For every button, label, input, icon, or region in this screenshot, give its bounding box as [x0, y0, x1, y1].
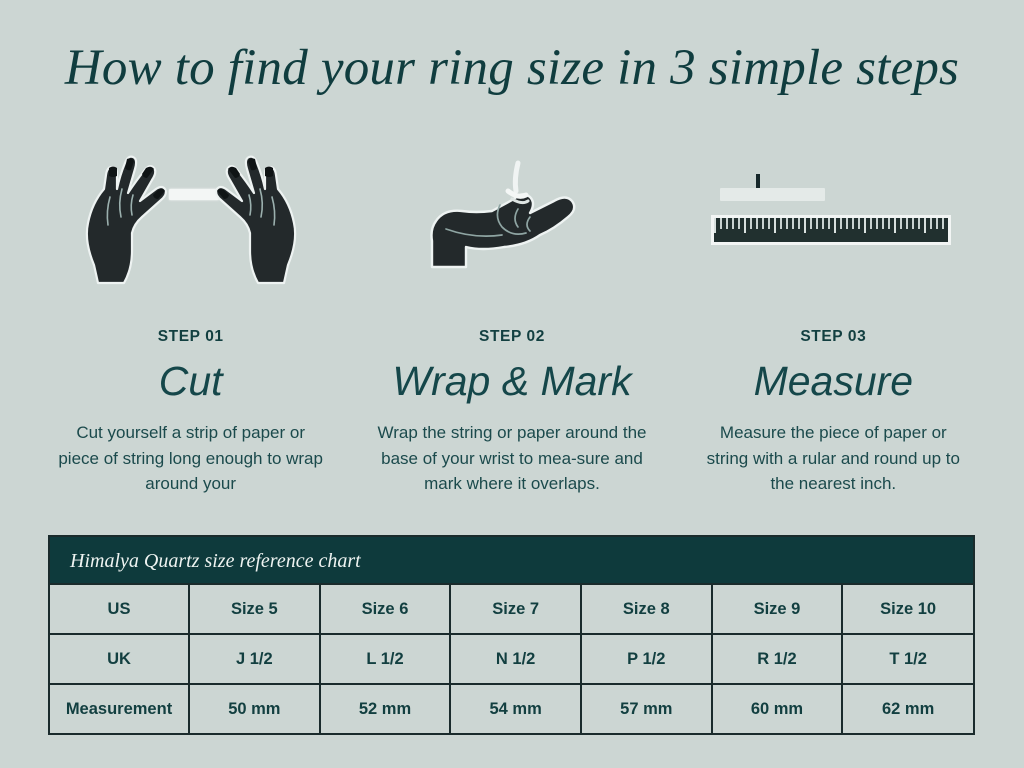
table-row: US Size 5 Size 6 Size 7 Size 8 Size 9 Si… — [50, 585, 973, 634]
step-card-02: STEP 02 Wrap & Mark Wrap the string or p… — [351, 140, 672, 497]
ruler-major-ticks — [714, 218, 948, 233]
step-03-label: STEP 03 — [800, 328, 866, 346]
table-cell: L 1/2 — [320, 634, 451, 684]
table-cell: 52 mm — [320, 684, 451, 733]
table-row: Measurement 50 mm 52 mm 54 mm 57 mm 60 m… — [50, 684, 973, 733]
step-01-name: Cut — [159, 358, 223, 404]
paper-strip-shape — [720, 188, 825, 201]
size-grid-body: US Size 5 Size 6 Size 7 Size 8 Size 9 Si… — [50, 585, 973, 733]
step-card-01: STEP 01 Cut Cut yourself a strip of pape… — [30, 140, 351, 497]
table-row: UK J 1/2 L 1/2 N 1/2 P 1/2 R 1/2 T 1/2 — [50, 634, 973, 684]
table-cell: J 1/2 — [189, 634, 320, 684]
hand-with-string-wrapped-icon — [422, 155, 602, 275]
size-reference-table: Himalya Quartz size reference chart US S… — [48, 535, 975, 735]
table-cell: T 1/2 — [842, 634, 973, 684]
step-03-description: Measure the piece of paper or string wit… — [697, 420, 969, 497]
table-cell: N 1/2 — [450, 634, 581, 684]
table-cell: Size 6 — [320, 585, 451, 634]
table-cell: R 1/2 — [712, 634, 843, 684]
table-cell: Size 9 — [712, 585, 843, 634]
step-01-label: STEP 01 — [158, 328, 224, 346]
step-01-artwork — [30, 140, 351, 290]
step-03-artwork — [673, 140, 994, 290]
table-cell: Size 5 — [189, 585, 320, 634]
page-title: How to find your ring size in 3 simple s… — [0, 38, 1024, 98]
table-cell: 54 mm — [450, 684, 581, 733]
left-hand-icon — [76, 145, 181, 290]
table-cell: Size 10 — [842, 585, 973, 634]
table-cell: 57 mm — [581, 684, 712, 733]
step-02-name: Wrap & Mark — [392, 358, 631, 404]
table-caption: Himalya Quartz size reference chart — [50, 537, 973, 585]
step-card-03: STEP 03 Measure Measure the piece of pap… — [673, 140, 994, 497]
right-hand-icon — [201, 145, 306, 290]
two-hands-holding-paper-strip-icon — [76, 145, 306, 285]
step-03-name: Measure — [754, 358, 914, 404]
step-02-artwork — [351, 140, 672, 290]
steps-row: STEP 01 Cut Cut yourself a strip of pape… — [30, 140, 994, 497]
ruler-with-paper-strip-icon — [708, 160, 958, 270]
table-cell: 50 mm — [189, 684, 320, 733]
step-02-description: Wrap the string or paper around the base… — [376, 420, 648, 497]
row-header: US — [50, 585, 189, 634]
table-cell: 62 mm — [842, 684, 973, 733]
size-grid: US Size 5 Size 6 Size 7 Size 8 Size 9 Si… — [50, 585, 973, 733]
table-cell: 60 mm — [712, 684, 843, 733]
ruler-shape — [711, 215, 951, 245]
row-header: UK — [50, 634, 189, 684]
row-header: Measurement — [50, 684, 189, 733]
step-01-description: Cut yourself a strip of paper or piece o… — [55, 420, 327, 497]
table-cell: P 1/2 — [581, 634, 712, 684]
step-02-label: STEP 02 — [479, 328, 545, 346]
table-cell: Size 7 — [450, 585, 581, 634]
mark-tick-shape — [756, 174, 760, 189]
table-cell: Size 8 — [581, 585, 712, 634]
